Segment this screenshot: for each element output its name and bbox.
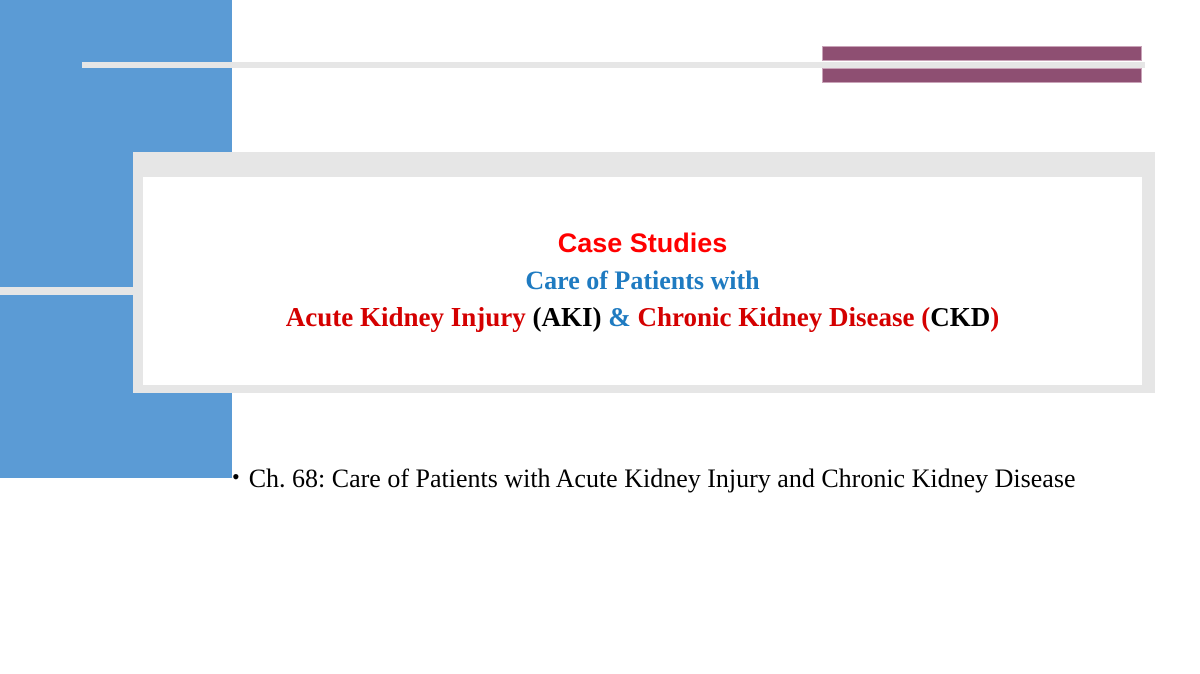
- title-segment-ampersand: &: [602, 302, 638, 332]
- title-line-case-studies: Case Studies: [558, 228, 728, 260]
- title-segment-ckd-paren-open: (: [921, 302, 930, 332]
- title-segment-chronic-kidney-disease: Chronic Kidney Disease: [638, 302, 922, 332]
- title-line-care-of-patients: Care of Patients with: [525, 266, 759, 297]
- decorative-purple-bar-upper: [822, 46, 1142, 61]
- bullet-marker-icon: •: [232, 462, 240, 491]
- slide-canvas: Case Studies Care of Patients with Acute…: [0, 0, 1200, 674]
- title-segment-ckd-abbrev: CKD: [930, 302, 990, 332]
- body-content: • Ch. 68: Care of Patients with Acute Ki…: [232, 462, 1132, 496]
- title-segment-acute-kidney-injury: Acute Kidney Injury: [286, 302, 533, 332]
- bullet-item-text: Ch. 68: Care of Patients with Acute Kidn…: [249, 462, 1076, 496]
- title-line-aki-ckd: Acute Kidney Injury (AKI) & Chronic Kidn…: [286, 302, 1000, 334]
- title-segment-aki-abbrev: (AKI): [533, 302, 602, 332]
- decorative-purple-bar-lower: [822, 68, 1142, 83]
- title-box: Case Studies Care of Patients with Acute…: [143, 177, 1142, 385]
- list-item: • Ch. 68: Care of Patients with Acute Ki…: [232, 462, 1132, 496]
- decorative-rule-middle: [0, 287, 133, 295]
- title-segment-ckd-paren-close: ): [990, 302, 999, 332]
